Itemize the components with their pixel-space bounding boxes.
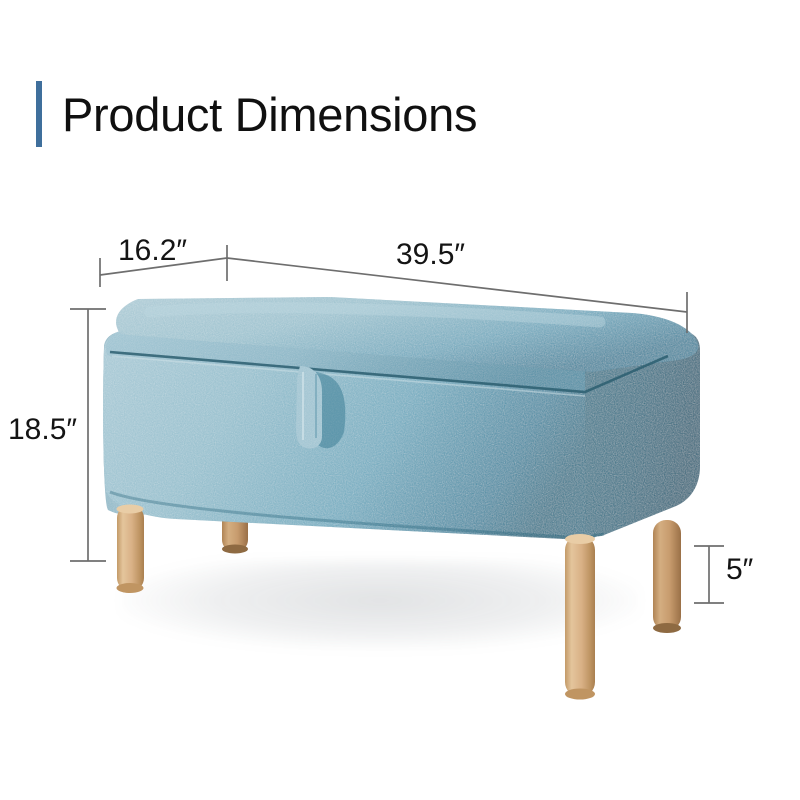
dimension-label-leg-height: 5″ [726, 555, 753, 585]
leg-front-right [565, 534, 595, 700]
dimension-label-depth: 16.2″ [118, 236, 187, 266]
dimension-label-height: 18.5″ [8, 415, 77, 445]
leg-rear-right [653, 520, 681, 633]
dimension-label-width: 39.5″ [396, 240, 465, 270]
leg-front-left [117, 505, 145, 594]
storage-bench-graphic [0, 0, 800, 800]
product-dimensions-image: Product Dimensions [0, 0, 800, 800]
product-illustration [0, 0, 800, 800]
